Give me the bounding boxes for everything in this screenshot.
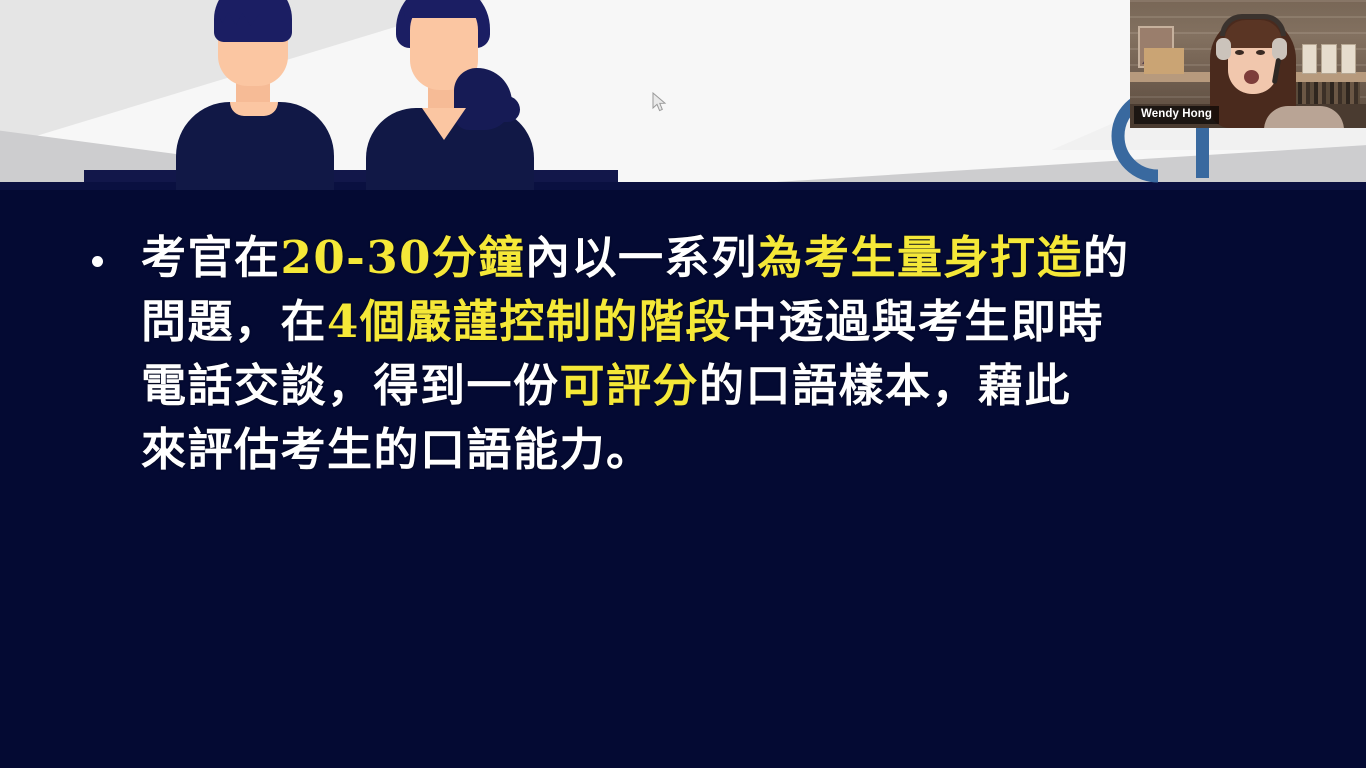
webcam-person-eye-right [1256, 50, 1265, 55]
bullet-paragraph: 考官在20-30分鐘內以一系列為考生量身打造的問題，在4個嚴謹控制的階段中透過與… [92, 226, 1272, 482]
headphone-earcup-right [1272, 38, 1287, 60]
male-collar [230, 102, 278, 116]
bullet-marker-icon [92, 256, 103, 267]
bullet-run-3-0: 來評估考生的口語能力。 [141, 423, 653, 476]
webcam-person-shoulder [1264, 106, 1344, 128]
bullet-run-1-1: 4個嚴謹控制的階段 [327, 295, 732, 348]
bullet-run-1-2: 中透過與考生即時 [732, 295, 1104, 348]
female-headband [404, 0, 484, 18]
slide-text-body: 考官在20-30分鐘內以一系列為考生量身打造的問題，在4個嚴謹控制的階段中透過與… [0, 190, 1366, 768]
participant-name-label: Wendy Hong [1134, 106, 1219, 124]
webcam-self-view-tile[interactable]: Wendy Hong [1130, 0, 1366, 128]
bullet-run-2-2: 的口語樣本，藉此 [699, 359, 1071, 412]
mouse-pointer-icon [652, 92, 668, 114]
bullet-text-content: 考官在20-30分鐘內以一系列為考生量身打造的問題，在4個嚴謹控制的階段中透過與… [141, 226, 1272, 482]
webcam-photo-frames [1302, 44, 1356, 74]
bullet-run-0-3: 為考生量身打造 [757, 231, 1083, 284]
bullet-run-0-2: 內以一系列 [525, 231, 758, 284]
webcam-person-eye-left [1235, 50, 1244, 55]
bullet-run-0-0: 考官在 [141, 231, 281, 284]
bullet-run-1-0: 問題，在 [141, 295, 327, 348]
female-examiner-figure [358, 0, 543, 180]
bullet-run-0-4: 的 [1083, 231, 1130, 284]
bullet-run-2-1: 可評分 [560, 359, 700, 412]
bullet-run-2-0: 電話交談，得到一份 [141, 359, 560, 412]
webcam-person-mouth [1244, 70, 1259, 84]
screen-root: Wendy Hong 考官在20-30分鐘內以一系列為考生量身打造的問題，在4個… [0, 0, 1366, 768]
female-ponytail-tail [486, 96, 520, 122]
bullet-run-0-1: 20-30分鐘 [281, 231, 525, 284]
webcam-bookshelf-books [1290, 82, 1360, 106]
webcam-person [1206, 10, 1300, 128]
male-examiner-figure [168, 0, 343, 180]
webcam-shelf-box [1144, 48, 1184, 74]
headphone-earcup-left [1216, 38, 1231, 60]
headphones-icon [1220, 14, 1286, 36]
